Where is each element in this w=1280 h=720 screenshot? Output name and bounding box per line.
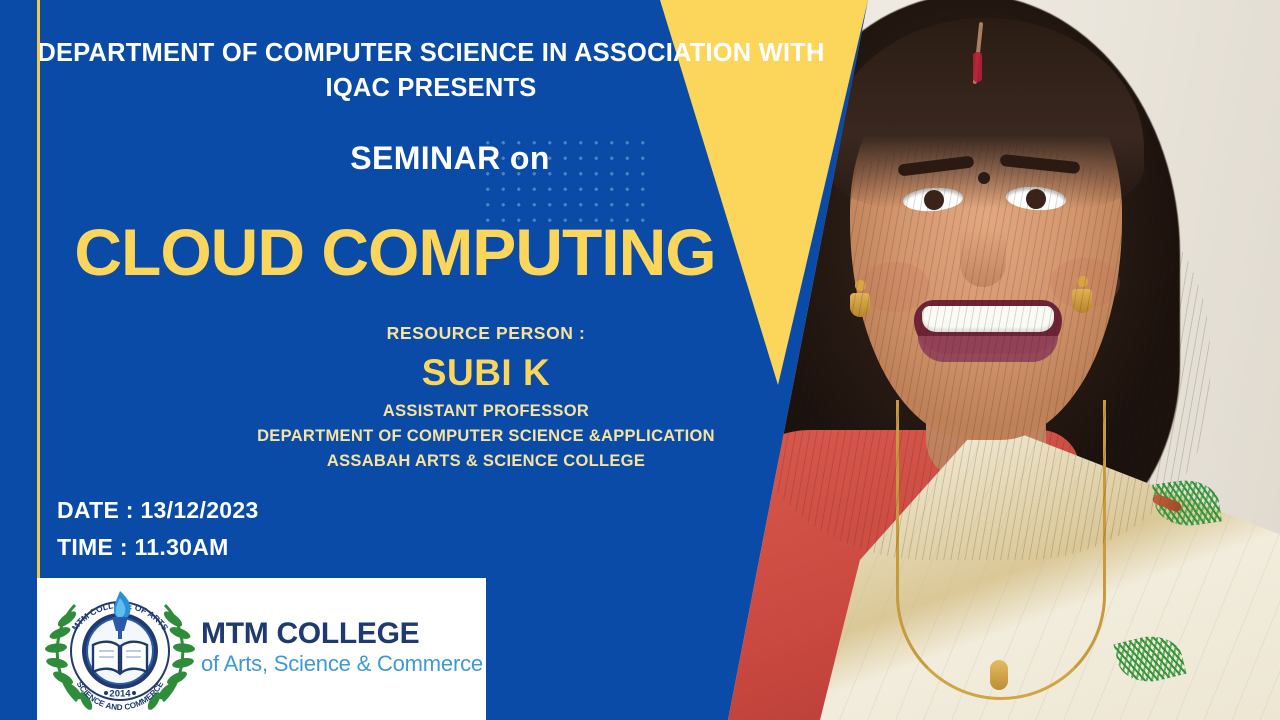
resource-person-institution: ASSABAH ARTS & SCIENCE COLLEGE: [0, 449, 972, 474]
resource-person-department: DEPARTMENT OF COMPUTER SCIENCE &APPLICAT…: [0, 424, 972, 449]
college-name: MTM COLLEGE: [201, 618, 483, 650]
resource-person-label: RESOURCE PERSON :: [0, 323, 972, 344]
event-date: DATE : 13/12/2023: [57, 492, 259, 529]
college-logo-card: MTM COLLEGE OF ARTS SCIENCE AND COMMERCE: [37, 578, 486, 720]
college-emblem-icon: MTM COLLEGE OF ARTS SCIENCE AND COMMERCE: [45, 585, 195, 713]
event-time: TIME : 11.30AM: [57, 529, 259, 566]
poster-header: DEPARTMENT OF COMPUTER SCIENCE IN ASSOCI…: [8, 36, 854, 105]
header-line-1: DEPARTMENT OF COMPUTER SCIENCE IN ASSOCI…: [8, 36, 854, 71]
college-name-block: MTM COLLEGE of Arts, Science & Commerce: [201, 618, 483, 680]
emblem-year-text: 2014: [109, 689, 131, 700]
resource-person-details: ASSISTANT PROFESSOR DEPARTMENT OF COMPUT…: [0, 399, 972, 473]
open-book-icon: [93, 642, 147, 673]
event-schedule: DATE : 13/12/2023 TIME : 11.30AM: [57, 492, 259, 566]
header-line-2: IQAC PRESENTS: [8, 71, 854, 106]
seminar-topic-title: CLOUD COMPUTING: [0, 218, 790, 287]
resource-person-designation: ASSISTANT PROFESSOR: [0, 399, 972, 424]
resource-person-name: SUBI K: [0, 352, 972, 394]
college-tagline: of Arts, Science & Commerce: [201, 652, 483, 676]
seminar-label: SEMINAR on: [0, 140, 900, 177]
sindoor: [973, 52, 982, 82]
seminar-poster: DEPARTMENT OF COMPUTER SCIENCE IN ASSOCI…: [0, 0, 1280, 720]
